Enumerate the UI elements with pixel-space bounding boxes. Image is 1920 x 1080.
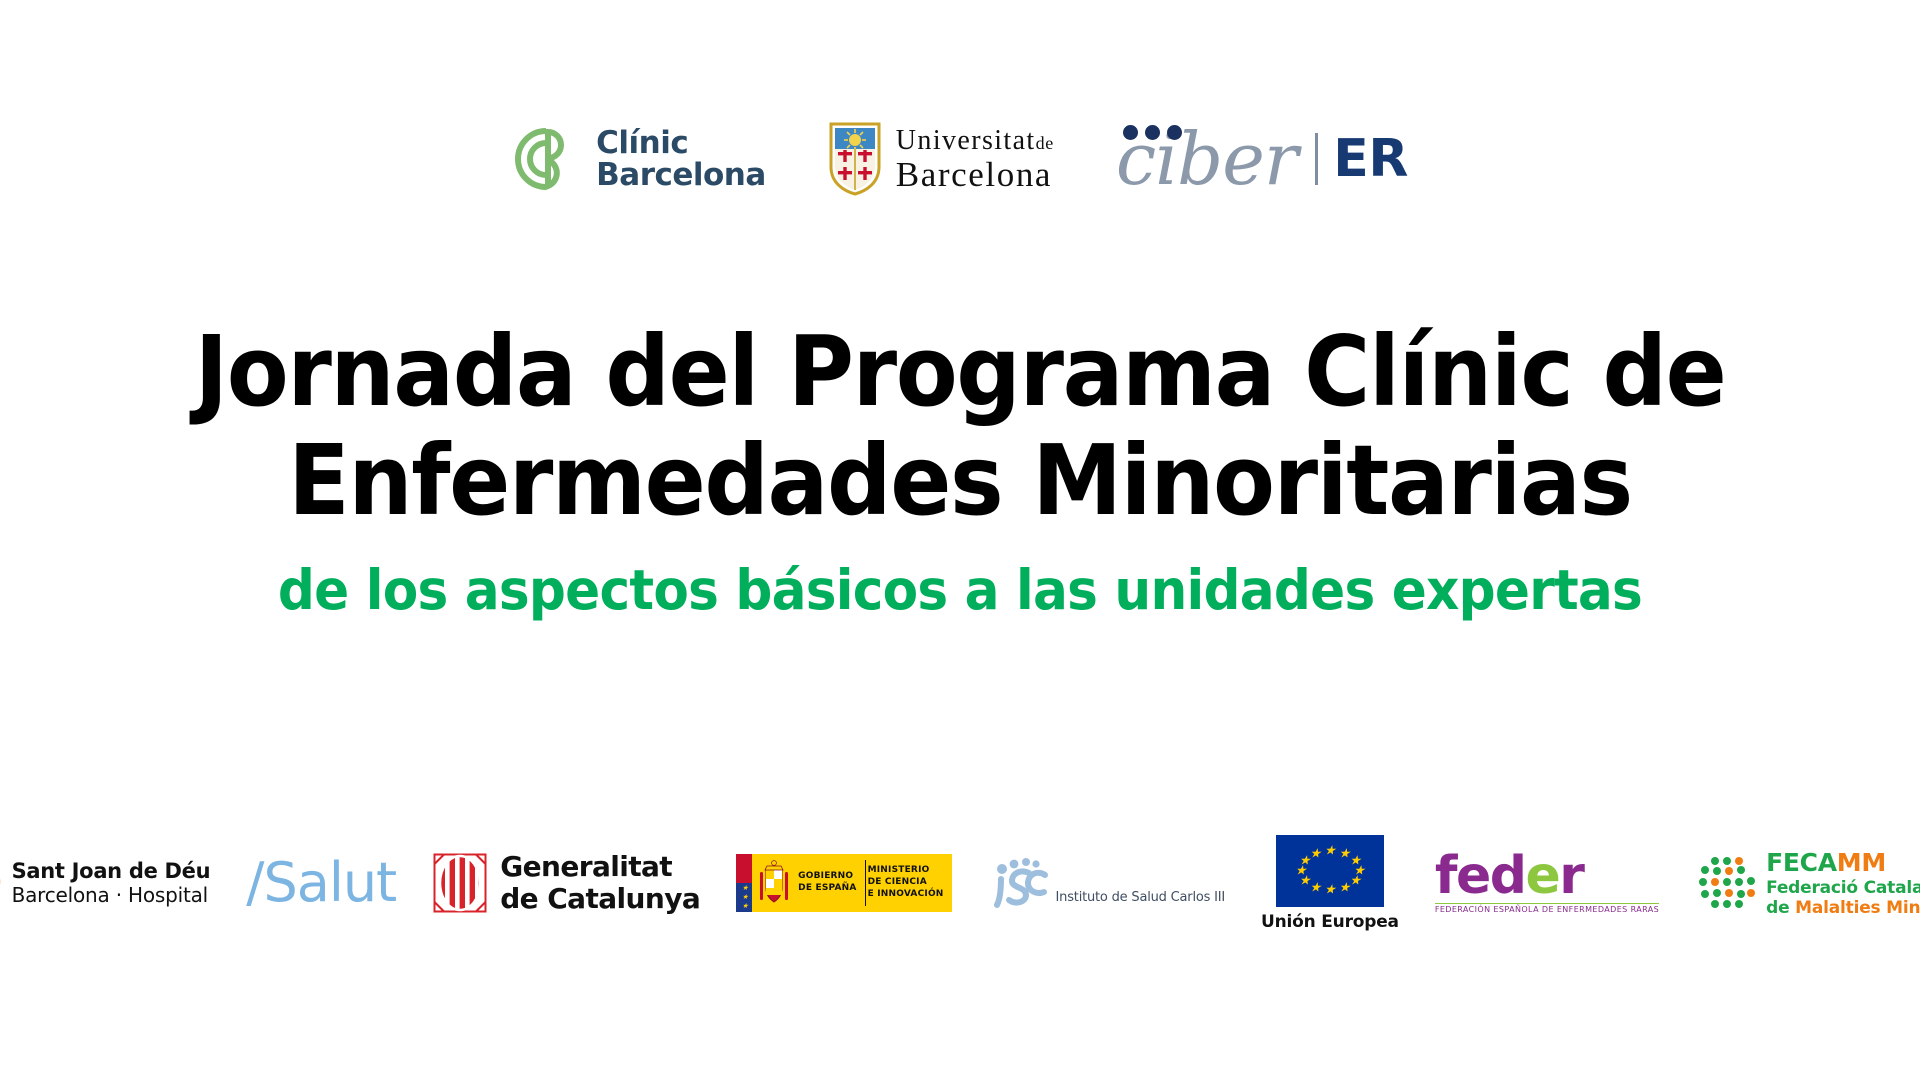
ub-line-2: Barcelona xyxy=(896,157,1054,192)
salut-wordmark: /Salut xyxy=(246,856,396,910)
ministerio-line-2: DE CIENCIA xyxy=(868,877,944,889)
sjd-line-2: Barcelona · Hospital xyxy=(12,884,211,908)
ciber-divider xyxy=(1315,133,1318,185)
presentation-slide: Clínic Barcelona xyxy=(0,0,1920,1080)
feder-wordmark: feder xyxy=(1435,852,1584,901)
logo-ciber-er: ciber ER xyxy=(1116,117,1408,201)
spain-flag-stripe-icon: ★★★ xyxy=(736,854,752,912)
generalitat-line-2: de Catalunya xyxy=(500,883,700,915)
ub-de-text: de xyxy=(1036,133,1054,153)
generalitat-line-1: Generalitat xyxy=(500,851,700,883)
sjd-wordmark: Sant Joan de Déu Barcelona · Hospital xyxy=(12,859,211,907)
ministerio-text-block: MINISTERIO DE CIENCIA E INNOVACIÓN xyxy=(866,854,952,912)
ciber-wordmark: ciber xyxy=(1116,123,1311,195)
logo-generalitat-de-catalunya: Generalitat de Catalunya xyxy=(432,851,700,915)
bottom-sponsor-logo-row: SJD Sant Joan de Déu Barcelona · Hospita… xyxy=(0,828,1920,938)
sjd-acronym: SJD xyxy=(0,860,1,905)
isciii-script-icon xyxy=(988,855,1050,911)
logo-clinic-barcelona: Clínic Barcelona xyxy=(512,117,766,201)
fecamm-line-3-green: de xyxy=(1766,898,1795,918)
fecamm-line-3: de Malalties Minoritàries xyxy=(1766,898,1920,918)
ub-shield-icon xyxy=(828,121,882,197)
logo-instituto-de-salud-carlos-iii: Instituto de Salud Carlos III xyxy=(988,855,1225,911)
spain-coat-of-arms-icon xyxy=(752,854,796,912)
catalunya-shield-icon xyxy=(432,852,488,914)
fecamm-wordmark: FECAMM Federació Catalana de Malalties M… xyxy=(1766,848,1920,918)
feder-text-post: r xyxy=(1559,846,1583,906)
clinic-line-1: Clínic xyxy=(596,127,766,159)
feder-tagline: FEDERACIÓN ESPAÑOLA DE ENFERMEDADES RARA… xyxy=(1435,905,1659,914)
fecamm-line-3-orange: Malalties Minoritàries xyxy=(1795,898,1920,918)
gobierno-line-1: GOBIERNO xyxy=(798,871,856,883)
sjd-line-1: Sant Joan de Déu xyxy=(12,859,211,884)
gobierno-line-2: DE ESPAÑA xyxy=(798,883,856,895)
fecamm-line-2: Federació Catalana xyxy=(1766,878,1920,898)
ministerio-line-1: MINISTERIO xyxy=(868,865,944,877)
clinic-line-2: Barcelona xyxy=(596,159,766,191)
fecamm-acronym: FECAMM xyxy=(1766,848,1920,878)
ministerio-line-3: E INNOVACIÓN xyxy=(868,889,944,901)
ub-wordmark: Universitatde Barcelona xyxy=(896,127,1054,192)
clinic-barcelona-wordmark: Clínic Barcelona xyxy=(596,127,766,191)
logo-fecamm: FECAMM Federació Catalana de Malalties M… xyxy=(1695,848,1920,918)
ciber-dots-icon xyxy=(1123,125,1182,140)
fecamm-acronym-orange: MM xyxy=(1837,848,1886,877)
logo-universitat-de-barcelona: Universitatde Barcelona xyxy=(828,117,1054,201)
fecamm-dots-icon xyxy=(1695,854,1757,912)
title-block: Jornada del Programa Clínic de Enfermeda… xyxy=(0,318,1920,623)
eu-caption: Unión Europea xyxy=(1261,912,1399,932)
logo-salut: /Salut xyxy=(246,856,396,910)
eu-flag-icon: ★ ★ ★ ★ ★ ★ ★ ★ ★ ★ ★ ★ xyxy=(1276,835,1384,907)
top-sponsor-logo-row: Clínic Barcelona xyxy=(0,104,1920,214)
fecamm-acronym-green: FECA xyxy=(1766,848,1837,877)
page-title: Jornada del Programa Clínic de Enfermeda… xyxy=(67,318,1853,535)
logo-feder: feder FEDERACIÓN ESPAÑOLA DE ENFERMEDADE… xyxy=(1435,852,1659,913)
feder-text-pre: fed xyxy=(1435,846,1526,906)
feder-text-accent: e xyxy=(1525,846,1559,906)
eu-stars: ★ ★ ★ ★ ★ ★ ★ ★ ★ ★ ★ ★ xyxy=(1276,835,1384,907)
logo-gobierno-de-espana: ★★★ GOBIERNO DE ESPAÑA xyxy=(736,854,951,912)
gobierno-text-block: GOBIERNO DE ESPAÑA xyxy=(796,854,864,912)
title-line-1: Jornada del Programa Clínic de xyxy=(195,315,1726,428)
title-line-2: Enfermedades Minoritarias xyxy=(288,424,1632,537)
generalitat-wordmark: Generalitat de Catalunya xyxy=(500,851,700,915)
ub-line-1: Universitatde xyxy=(896,127,1054,155)
logo-sant-joan-de-deu: SJD Sant Joan de Déu Barcelona · Hospita… xyxy=(0,859,210,907)
page-subtitle: de los aspectos básicos a las unidades e… xyxy=(58,559,1863,622)
logo-union-europea: ★ ★ ★ ★ ★ ★ ★ ★ ★ ★ ★ ★ Unión Europea xyxy=(1261,835,1399,932)
isciii-caption: Instituto de Salud Carlos III xyxy=(1056,890,1225,911)
ub-universitat-text: Universitat xyxy=(896,125,1036,156)
clinic-cb-icon xyxy=(512,121,584,197)
ciber-er-text: ER xyxy=(1333,133,1408,185)
sjd-letter-d: D xyxy=(0,856,1,909)
feder-rule xyxy=(1435,903,1659,904)
